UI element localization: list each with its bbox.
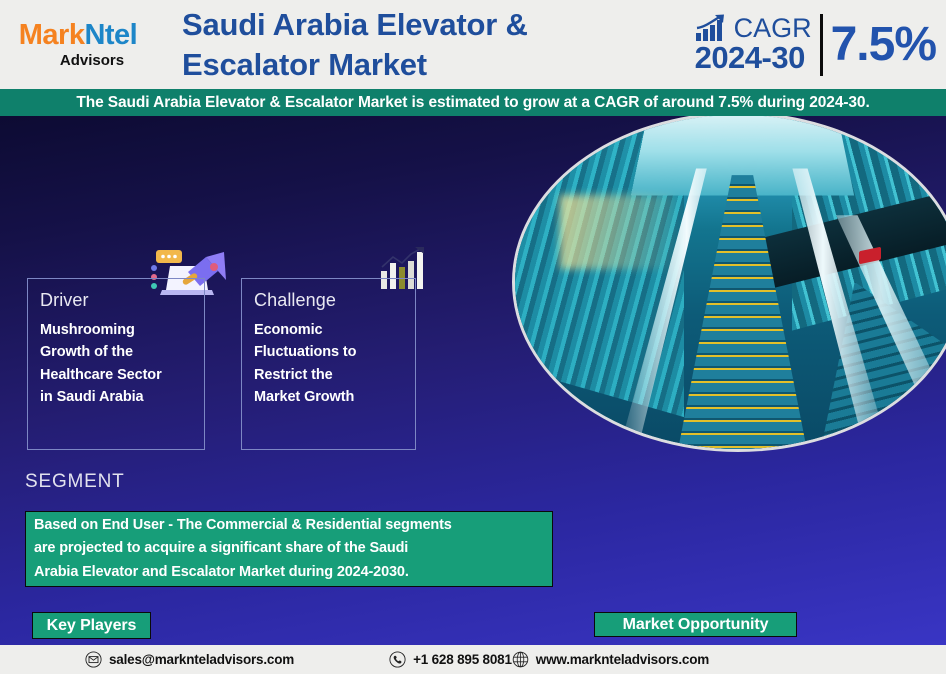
title-line-1: Saudi Arabia Elevator & <box>182 5 695 44</box>
photo-layer-glow <box>560 195 676 268</box>
driver-card-title: Driver <box>40 290 204 311</box>
body-area: Driver Mushrooming Growth of the Healthc… <box>0 116 946 645</box>
page-title: Saudi Arabia Elevator & Escalator Market <box>150 5 695 83</box>
footer-email-text: sales@marknteladvisors.com <box>109 652 294 667</box>
footer-phone[interactable]: +1 628 895 8081 <box>389 651 512 668</box>
segment-label: SEGMENT <box>25 471 125 493</box>
market-opportunity-badge-text: Market Opportunity <box>623 616 769 634</box>
challenge-card-title: Challenge <box>254 290 415 311</box>
segment-text: Based on End User - The Commercial & Res… <box>34 514 452 584</box>
cagr-divider <box>820 14 823 76</box>
challenge-card-body: Economic Fluctuations to Restrict the Ma… <box>254 319 415 409</box>
driver-card-body: Mushrooming Growth of the Healthcare Sec… <box>40 319 204 409</box>
footer-bar: North America is predicted to hold a con… <box>0 645 946 674</box>
footer-website[interactable]: www.marknteladvisors.com <box>512 651 709 668</box>
cagr-word-label: CAGR <box>734 15 812 42</box>
phone-icon <box>389 651 406 668</box>
summary-banner-text: The Saudi Arabia Elevator & Escalator Ma… <box>76 94 869 112</box>
cagr-block: CAGR 2024-30 7.5% <box>695 0 946 89</box>
escalator-photo-inner <box>515 116 946 449</box>
cagr-top-row: CAGR <box>695 14 812 42</box>
brand-logo[interactable]: MarkNtel Advisors <box>0 0 150 89</box>
summary-banner: The Saudi Arabia Elevator & Escalator Ma… <box>0 89 946 116</box>
logo-wordmark: MarkNtel <box>19 21 138 50</box>
market-opportunity-badge: Market Opportunity <box>594 612 797 637</box>
cagr-value: 7.5% <box>831 21 936 69</box>
segment-box: Based on End User - The Commercial & Res… <box>25 511 553 587</box>
bar-chart-arrow-up-icon <box>695 14 731 42</box>
challenge-card-inner: Challenge Economic Fluctuations to Restr… <box>242 279 415 409</box>
infographic-page: MarkNtel Advisors Saudi Arabia Elevator … <box>0 0 946 674</box>
logo-mark-text: Mark <box>19 19 85 51</box>
challenge-card: Challenge Economic Fluctuations to Restr… <box>241 278 416 450</box>
key-players-badge-text: Key Players <box>47 617 137 635</box>
globe-icon <box>512 651 529 668</box>
key-players-badge: Key Players <box>32 612 151 639</box>
logo-subtitle: Advisors <box>60 52 124 69</box>
footer-website-text: www.marknteladvisors.com <box>536 652 709 667</box>
header-bar: MarkNtel Advisors Saudi Arabia Elevator … <box>0 0 946 89</box>
logo-ntel-text: Ntel <box>84 19 137 51</box>
driver-card-inner: Driver Mushrooming Growth of the Healthc… <box>28 279 204 409</box>
cagr-label-group: CAGR 2024-30 <box>695 14 812 75</box>
email-icon <box>85 651 102 668</box>
title-line-2: Escalator Market <box>182 45 695 84</box>
cagr-years-label: 2024-30 <box>695 42 805 75</box>
escalator-photo <box>512 116 946 452</box>
footer-phone-text: +1 628 895 8081 <box>413 652 512 667</box>
footer-email[interactable]: sales@marknteladvisors.com <box>85 651 294 668</box>
driver-card: Driver Mushrooming Growth of the Healthc… <box>27 278 205 450</box>
